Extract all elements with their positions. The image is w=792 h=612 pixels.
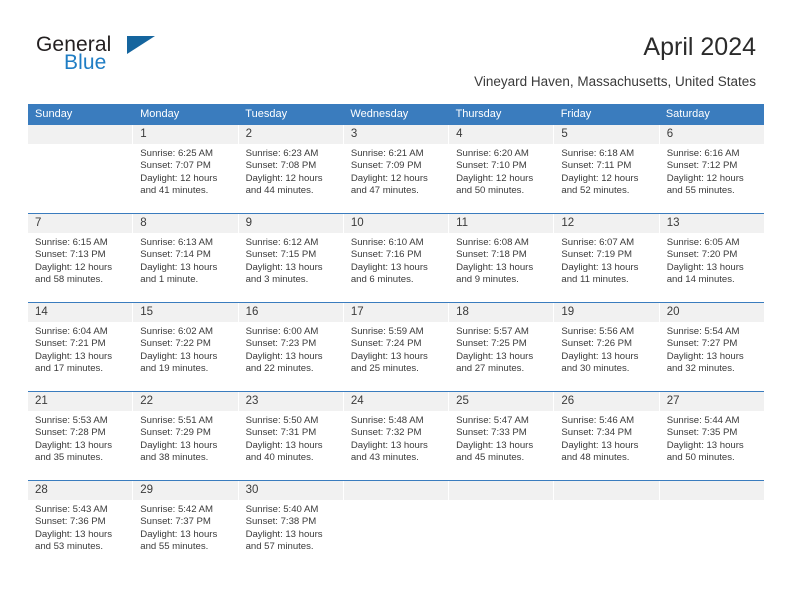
sunset-text: Sunset: 7:23 PM: [246, 338, 339, 350]
daylight-text-line2: and 11 minutes.: [561, 274, 654, 286]
sunset-text: Sunset: 7:13 PM: [35, 249, 128, 261]
daylight-text-line2: and 17 minutes.: [35, 363, 128, 375]
sunset-text: Sunset: 7:28 PM: [35, 427, 128, 439]
daylight-text-line1: Daylight: 13 hours: [246, 440, 339, 452]
daylight-text-line1: Daylight: 13 hours: [140, 351, 233, 363]
daylight-text-line2: and 1 minute.: [140, 274, 233, 286]
day-sun-info: Sunrise: 6:21 AMSunset: 7:09 PMDaylight:…: [344, 144, 448, 197]
calendar-day-cell[interactable]: 20Sunrise: 5:54 AMSunset: 7:27 PMDayligh…: [660, 303, 764, 391]
sunrise-text: Sunrise: 6:25 AM: [140, 148, 233, 160]
day-sun-info: Sunrise: 6:23 AMSunset: 7:08 PMDaylight:…: [239, 144, 343, 197]
day-number: 22: [133, 392, 237, 411]
day-sun-info: Sunrise: 5:50 AMSunset: 7:31 PMDaylight:…: [239, 411, 343, 464]
sunrise-text: Sunrise: 5:51 AM: [140, 415, 233, 427]
weekday-header-row: SundayMondayTuesdayWednesdayThursdayFrid…: [28, 104, 764, 125]
day-sun-info: Sunrise: 6:05 AMSunset: 7:20 PMDaylight:…: [660, 233, 764, 286]
sunset-text: Sunset: 7:24 PM: [351, 338, 444, 350]
daylight-text-line2: and 41 minutes.: [140, 185, 233, 197]
calendar-day-cell[interactable]: 29Sunrise: 5:42 AMSunset: 7:37 PMDayligh…: [133, 481, 238, 567]
day-sun-info: Sunrise: 5:56 AMSunset: 7:26 PMDaylight:…: [554, 322, 658, 375]
day-sun-info: Sunrise: 5:42 AMSunset: 7:37 PMDaylight:…: [133, 500, 237, 553]
logo-text-blue: Blue: [64, 51, 106, 74]
calendar-day-cell[interactable]: 30Sunrise: 5:40 AMSunset: 7:38 PMDayligh…: [239, 481, 344, 567]
day-number: 6: [660, 125, 764, 144]
sunset-text: Sunset: 7:20 PM: [667, 249, 760, 261]
weekday-header-tuesday: Tuesday: [238, 104, 343, 125]
calendar-day-empty: [554, 481, 659, 567]
daylight-text-line2: and 35 minutes.: [35, 452, 128, 464]
sunset-text: Sunset: 7:18 PM: [456, 249, 549, 261]
day-number: 5: [554, 125, 658, 144]
calendar-day-cell[interactable]: 11Sunrise: 6:08 AMSunset: 7:18 PMDayligh…: [449, 214, 554, 302]
day-number: 24: [344, 392, 448, 411]
calendar-day-cell[interactable]: 18Sunrise: 5:57 AMSunset: 7:25 PMDayligh…: [449, 303, 554, 391]
daylight-text-line1: Daylight: 12 hours: [246, 173, 339, 185]
page-title: April 2024: [643, 33, 756, 61]
sunrise-text: Sunrise: 6:21 AM: [351, 148, 444, 160]
calendar-weeks: 1Sunrise: 6:25 AMSunset: 7:07 PMDaylight…: [28, 125, 764, 567]
weekday-header-friday: Friday: [554, 104, 659, 125]
sunset-text: Sunset: 7:11 PM: [561, 160, 654, 172]
day-number: 12: [554, 214, 658, 233]
calendar-day-cell[interactable]: 14Sunrise: 6:04 AMSunset: 7:21 PMDayligh…: [28, 303, 133, 391]
daylight-text-line2: and 43 minutes.: [351, 452, 444, 464]
day-number: 1: [133, 125, 237, 144]
daylight-text-line1: Daylight: 13 hours: [351, 262, 444, 274]
weekday-header-wednesday: Wednesday: [343, 104, 448, 125]
daylight-text-line1: Daylight: 12 hours: [140, 173, 233, 185]
calendar-week-row: 7Sunrise: 6:15 AMSunset: 7:13 PMDaylight…: [28, 213, 764, 302]
day-sun-info: Sunrise: 6:00 AMSunset: 7:23 PMDaylight:…: [239, 322, 343, 375]
sunrise-text: Sunrise: 5:48 AM: [351, 415, 444, 427]
day-sun-info: Sunrise: 6:25 AMSunset: 7:07 PMDaylight:…: [133, 144, 237, 197]
calendar-day-empty: [28, 125, 133, 213]
calendar-day-empty: [449, 481, 554, 567]
sunrise-text: Sunrise: 5:53 AM: [35, 415, 128, 427]
day-sun-info: Sunrise: 5:51 AMSunset: 7:29 PMDaylight:…: [133, 411, 237, 464]
sunset-text: Sunset: 7:19 PM: [561, 249, 654, 261]
calendar-week-row: 21Sunrise: 5:53 AMSunset: 7:28 PMDayligh…: [28, 391, 764, 480]
day-number: 23: [239, 392, 343, 411]
sunrise-text: Sunrise: 6:20 AM: [456, 148, 549, 160]
daylight-text-line1: Daylight: 13 hours: [561, 351, 654, 363]
calendar-day-cell[interactable]: 6Sunrise: 6:16 AMSunset: 7:12 PMDaylight…: [660, 125, 764, 213]
day-number: [554, 481, 658, 500]
daylight-text-line1: Daylight: 13 hours: [561, 440, 654, 452]
calendar-day-cell[interactable]: 16Sunrise: 6:00 AMSunset: 7:23 PMDayligh…: [239, 303, 344, 391]
day-sun-info: Sunrise: 6:13 AMSunset: 7:14 PMDaylight:…: [133, 233, 237, 286]
day-number: [449, 481, 553, 500]
sunset-text: Sunset: 7:38 PM: [246, 516, 339, 528]
day-sun-info: Sunrise: 5:43 AMSunset: 7:36 PMDaylight:…: [28, 500, 132, 553]
calendar-day-cell[interactable]: 27Sunrise: 5:44 AMSunset: 7:35 PMDayligh…: [660, 392, 764, 480]
daylight-text-line2: and 48 minutes.: [561, 452, 654, 464]
daylight-text-line2: and 55 minutes.: [667, 185, 760, 197]
day-number: 14: [28, 303, 132, 322]
calendar-day-cell[interactable]: 19Sunrise: 5:56 AMSunset: 7:26 PMDayligh…: [554, 303, 659, 391]
calendar-day-cell[interactable]: 24Sunrise: 5:48 AMSunset: 7:32 PMDayligh…: [344, 392, 449, 480]
day-number: 13: [660, 214, 764, 233]
week-cells: 7Sunrise: 6:15 AMSunset: 7:13 PMDaylight…: [28, 214, 764, 302]
day-sun-info: Sunrise: 5:59 AMSunset: 7:24 PMDaylight:…: [344, 322, 448, 375]
daylight-text-line2: and 19 minutes.: [140, 363, 233, 375]
calendar-day-cell[interactable]: 25Sunrise: 5:47 AMSunset: 7:33 PMDayligh…: [449, 392, 554, 480]
calendar-day-cell[interactable]: 3Sunrise: 6:21 AMSunset: 7:09 PMDaylight…: [344, 125, 449, 213]
calendar-day-cell[interactable]: 13Sunrise: 6:05 AMSunset: 7:20 PMDayligh…: [660, 214, 764, 302]
sunrise-text: Sunrise: 6:15 AM: [35, 237, 128, 249]
day-number: 28: [28, 481, 132, 500]
day-number: [660, 481, 764, 500]
sunset-text: Sunset: 7:32 PM: [351, 427, 444, 439]
daylight-text-line1: Daylight: 13 hours: [667, 351, 760, 363]
daylight-text-line1: Daylight: 13 hours: [246, 529, 339, 541]
daylight-text-line1: Daylight: 13 hours: [456, 351, 549, 363]
sunrise-text: Sunrise: 6:04 AM: [35, 326, 128, 338]
sunset-text: Sunset: 7:27 PM: [667, 338, 760, 350]
day-number: 27: [660, 392, 764, 411]
daylight-text-line1: Daylight: 12 hours: [456, 173, 549, 185]
location-subtitle: Vineyard Haven, Massachusetts, United St…: [474, 74, 756, 90]
sunrise-text: Sunrise: 5:43 AM: [35, 504, 128, 516]
daylight-text-line1: Daylight: 13 hours: [35, 440, 128, 452]
daylight-text-line2: and 6 minutes.: [351, 274, 444, 286]
calendar-day-cell[interactable]: 7Sunrise: 6:15 AMSunset: 7:13 PMDaylight…: [28, 214, 133, 302]
sunrise-text: Sunrise: 5:57 AM: [456, 326, 549, 338]
day-sun-info: Sunrise: 6:08 AMSunset: 7:18 PMDaylight:…: [449, 233, 553, 286]
calendar-day-cell[interactable]: 4Sunrise: 6:20 AMSunset: 7:10 PMDaylight…: [449, 125, 554, 213]
day-number: 29: [133, 481, 237, 500]
sunrise-text: Sunrise: 5:42 AM: [140, 504, 233, 516]
sunrise-text: Sunrise: 5:47 AM: [456, 415, 549, 427]
daylight-text-line1: Daylight: 13 hours: [246, 351, 339, 363]
daylight-text-line2: and 25 minutes.: [351, 363, 444, 375]
sunset-text: Sunset: 7:08 PM: [246, 160, 339, 172]
day-number: 4: [449, 125, 553, 144]
day-sun-info: Sunrise: 5:47 AMSunset: 7:33 PMDaylight:…: [449, 411, 553, 464]
sunset-text: Sunset: 7:37 PM: [140, 516, 233, 528]
calendar-day-cell[interactable]: 21Sunrise: 5:53 AMSunset: 7:28 PMDayligh…: [28, 392, 133, 480]
day-number: 10: [344, 214, 448, 233]
day-number: 17: [344, 303, 448, 322]
sunset-text: Sunset: 7:22 PM: [140, 338, 233, 350]
sunrise-text: Sunrise: 6:12 AM: [246, 237, 339, 249]
day-number: 19: [554, 303, 658, 322]
day-number: 26: [554, 392, 658, 411]
sunrise-text: Sunrise: 5:50 AM: [246, 415, 339, 427]
sunset-text: Sunset: 7:07 PM: [140, 160, 233, 172]
daylight-text-line2: and 45 minutes.: [456, 452, 549, 464]
sunrise-text: Sunrise: 6:08 AM: [456, 237, 549, 249]
day-number: [344, 481, 448, 500]
triangle-icon: [127, 36, 155, 54]
day-number: 3: [344, 125, 448, 144]
day-sun-info: Sunrise: 6:16 AMSunset: 7:12 PMDaylight:…: [660, 144, 764, 197]
daylight-text-line2: and 57 minutes.: [246, 541, 339, 553]
sunset-text: Sunset: 7:12 PM: [667, 160, 760, 172]
daylight-text-line1: Daylight: 13 hours: [140, 529, 233, 541]
calendar-day-empty: [660, 481, 764, 567]
daylight-text-line1: Daylight: 12 hours: [351, 173, 444, 185]
daylight-text-line1: Daylight: 13 hours: [140, 440, 233, 452]
daylight-text-line1: Daylight: 13 hours: [140, 262, 233, 274]
sunrise-text: Sunrise: 6:05 AM: [667, 237, 760, 249]
daylight-text-line1: Daylight: 13 hours: [667, 440, 760, 452]
calendar-day-cell[interactable]: 28Sunrise: 5:43 AMSunset: 7:36 PMDayligh…: [28, 481, 133, 567]
day-sun-info: Sunrise: 5:53 AMSunset: 7:28 PMDaylight:…: [28, 411, 132, 464]
weekday-header-sunday: Sunday: [28, 104, 133, 125]
calendar-grid: SundayMondayTuesdayWednesdayThursdayFrid…: [28, 104, 764, 567]
day-sun-info: Sunrise: 6:04 AMSunset: 7:21 PMDaylight:…: [28, 322, 132, 375]
day-number: 11: [449, 214, 553, 233]
sunset-text: Sunset: 7:34 PM: [561, 427, 654, 439]
calendar-day-cell[interactable]: 15Sunrise: 6:02 AMSunset: 7:22 PMDayligh…: [133, 303, 238, 391]
sunset-text: Sunset: 7:29 PM: [140, 427, 233, 439]
sunset-text: Sunset: 7:35 PM: [667, 427, 760, 439]
daylight-text-line1: Daylight: 13 hours: [456, 262, 549, 274]
sunset-text: Sunset: 7:25 PM: [456, 338, 549, 350]
sunset-text: Sunset: 7:21 PM: [35, 338, 128, 350]
daylight-text-line2: and 58 minutes.: [35, 274, 128, 286]
sunset-text: Sunset: 7:36 PM: [35, 516, 128, 528]
daylight-text-line2: and 3 minutes.: [246, 274, 339, 286]
calendar-day-cell[interactable]: 12Sunrise: 6:07 AMSunset: 7:19 PMDayligh…: [554, 214, 659, 302]
sunset-text: Sunset: 7:33 PM: [456, 427, 549, 439]
calendar-day-cell[interactable]: 23Sunrise: 5:50 AMSunset: 7:31 PMDayligh…: [239, 392, 344, 480]
sunrise-text: Sunrise: 5:46 AM: [561, 415, 654, 427]
sunrise-text: Sunrise: 5:59 AM: [351, 326, 444, 338]
week-cells: 14Sunrise: 6:04 AMSunset: 7:21 PMDayligh…: [28, 303, 764, 391]
calendar-day-cell[interactable]: 1Sunrise: 6:25 AMSunset: 7:07 PMDaylight…: [133, 125, 238, 213]
day-number: 9: [239, 214, 343, 233]
day-number: 30: [239, 481, 343, 500]
sunrise-text: Sunrise: 6:02 AM: [140, 326, 233, 338]
daylight-text-line2: and 50 minutes.: [667, 452, 760, 464]
day-sun-info: Sunrise: 5:40 AMSunset: 7:38 PMDaylight:…: [239, 500, 343, 553]
week-cells: 21Sunrise: 5:53 AMSunset: 7:28 PMDayligh…: [28, 392, 764, 480]
calendar-week-row: 1Sunrise: 6:25 AMSunset: 7:07 PMDaylight…: [28, 125, 764, 213]
day-sun-info: Sunrise: 6:12 AMSunset: 7:15 PMDaylight:…: [239, 233, 343, 286]
daylight-text-line1: Daylight: 13 hours: [667, 262, 760, 274]
daylight-text-line1: Daylight: 13 hours: [456, 440, 549, 452]
daylight-text-line2: and 53 minutes.: [35, 541, 128, 553]
sunrise-text: Sunrise: 6:00 AM: [246, 326, 339, 338]
daylight-text-line2: and 44 minutes.: [246, 185, 339, 197]
calendar-week-row: 14Sunrise: 6:04 AMSunset: 7:21 PMDayligh…: [28, 302, 764, 391]
day-number: 2: [239, 125, 343, 144]
sunset-text: Sunset: 7:16 PM: [351, 249, 444, 261]
day-number: 7: [28, 214, 132, 233]
calendar-day-cell[interactable]: 10Sunrise: 6:10 AMSunset: 7:16 PMDayligh…: [344, 214, 449, 302]
sunrise-text: Sunrise: 6:16 AM: [667, 148, 760, 160]
daylight-text-line1: Daylight: 12 hours: [561, 173, 654, 185]
sunrise-text: Sunrise: 6:10 AM: [351, 237, 444, 249]
daylight-text-line2: and 27 minutes.: [456, 363, 549, 375]
day-number: 25: [449, 392, 553, 411]
day-sun-info: Sunrise: 6:02 AMSunset: 7:22 PMDaylight:…: [133, 322, 237, 375]
calendar-day-cell[interactable]: 22Sunrise: 5:51 AMSunset: 7:29 PMDayligh…: [133, 392, 238, 480]
sunset-text: Sunset: 7:09 PM: [351, 160, 444, 172]
day-sun-info: Sunrise: 5:44 AMSunset: 7:35 PMDaylight:…: [660, 411, 764, 464]
sunrise-text: Sunrise: 5:40 AM: [246, 504, 339, 516]
calendar-day-cell[interactable]: 2Sunrise: 6:23 AMSunset: 7:08 PMDaylight…: [239, 125, 344, 213]
day-sun-info: Sunrise: 5:54 AMSunset: 7:27 PMDaylight:…: [660, 322, 764, 375]
daylight-text-line2: and 14 minutes.: [667, 274, 760, 286]
week-cells: 28Sunrise: 5:43 AMSunset: 7:36 PMDayligh…: [28, 481, 764, 567]
day-sun-info: Sunrise: 5:57 AMSunset: 7:25 PMDaylight:…: [449, 322, 553, 375]
daylight-text-line2: and 30 minutes.: [561, 363, 654, 375]
daylight-text-line1: Daylight: 13 hours: [351, 351, 444, 363]
daylight-text-line1: Daylight: 13 hours: [35, 529, 128, 541]
daylight-text-line2: and 55 minutes.: [140, 541, 233, 553]
calendar-day-cell[interactable]: 9Sunrise: 6:12 AMSunset: 7:15 PMDaylight…: [239, 214, 344, 302]
daylight-text-line2: and 38 minutes.: [140, 452, 233, 464]
day-sun-info: Sunrise: 6:18 AMSunset: 7:11 PMDaylight:…: [554, 144, 658, 197]
day-sun-info: Sunrise: 6:15 AMSunset: 7:13 PMDaylight:…: [28, 233, 132, 286]
daylight-text-line2: and 32 minutes.: [667, 363, 760, 375]
sunrise-text: Sunrise: 6:07 AM: [561, 237, 654, 249]
day-number: [28, 125, 132, 144]
daylight-text-line1: Daylight: 13 hours: [246, 262, 339, 274]
calendar-week-row: 28Sunrise: 5:43 AMSunset: 7:36 PMDayligh…: [28, 480, 764, 567]
sunset-text: Sunset: 7:14 PM: [140, 249, 233, 261]
sunrise-text: Sunrise: 5:56 AM: [561, 326, 654, 338]
sunset-text: Sunset: 7:15 PM: [246, 249, 339, 261]
daylight-text-line2: and 52 minutes.: [561, 185, 654, 197]
day-sun-info: Sunrise: 6:20 AMSunset: 7:10 PMDaylight:…: [449, 144, 553, 197]
day-sun-info: Sunrise: 6:10 AMSunset: 7:16 PMDaylight:…: [344, 233, 448, 286]
weekday-header-thursday: Thursday: [449, 104, 554, 125]
daylight-text-line2: and 22 minutes.: [246, 363, 339, 375]
sunrise-text: Sunrise: 5:54 AM: [667, 326, 760, 338]
day-number: 15: [133, 303, 237, 322]
sunset-text: Sunset: 7:26 PM: [561, 338, 654, 350]
calendar-day-cell[interactable]: 8Sunrise: 6:13 AMSunset: 7:14 PMDaylight…: [133, 214, 238, 302]
sunrise-text: Sunrise: 6:13 AM: [140, 237, 233, 249]
day-number: 16: [239, 303, 343, 322]
daylight-text-line1: Daylight: 13 hours: [561, 262, 654, 274]
calendar-day-cell[interactable]: 26Sunrise: 5:46 AMSunset: 7:34 PMDayligh…: [554, 392, 659, 480]
page-header: General Blue April 2024 Vineyard Haven, …: [0, 0, 792, 100]
day-number: 8: [133, 214, 237, 233]
daylight-text-line1: Daylight: 12 hours: [667, 173, 760, 185]
sunrise-text: Sunrise: 6:18 AM: [561, 148, 654, 160]
week-cells: 1Sunrise: 6:25 AMSunset: 7:07 PMDaylight…: [28, 125, 764, 213]
day-number: 18: [449, 303, 553, 322]
daylight-text-line2: and 47 minutes.: [351, 185, 444, 197]
day-number: 20: [660, 303, 764, 322]
weekday-header-monday: Monday: [133, 104, 238, 125]
daylight-text-line2: and 40 minutes.: [246, 452, 339, 464]
calendar-day-empty: [344, 481, 449, 567]
daylight-text-line1: Daylight: 12 hours: [35, 262, 128, 274]
calendar-day-cell[interactable]: 17Sunrise: 5:59 AMSunset: 7:24 PMDayligh…: [344, 303, 449, 391]
day-number: 21: [28, 392, 132, 411]
calendar-day-cell[interactable]: 5Sunrise: 6:18 AMSunset: 7:11 PMDaylight…: [554, 125, 659, 213]
sunrise-text: Sunrise: 5:44 AM: [667, 415, 760, 427]
daylight-text-line2: and 9 minutes.: [456, 274, 549, 286]
weekday-header-saturday: Saturday: [659, 104, 764, 125]
calendar-page: General Blue April 2024 Vineyard Haven, …: [0, 0, 792, 612]
sunset-text: Sunset: 7:31 PM: [246, 427, 339, 439]
day-sun-info: Sunrise: 5:48 AMSunset: 7:32 PMDaylight:…: [344, 411, 448, 464]
general-blue-logo[interactable]: General Blue: [36, 33, 186, 79]
day-sun-info: Sunrise: 5:46 AMSunset: 7:34 PMDaylight:…: [554, 411, 658, 464]
daylight-text-line1: Daylight: 13 hours: [35, 351, 128, 363]
daylight-text-line2: and 50 minutes.: [456, 185, 549, 197]
sunset-text: Sunset: 7:10 PM: [456, 160, 549, 172]
sunrise-text: Sunrise: 6:23 AM: [246, 148, 339, 160]
day-sun-info: Sunrise: 6:07 AMSunset: 7:19 PMDaylight:…: [554, 233, 658, 286]
daylight-text-line1: Daylight: 13 hours: [351, 440, 444, 452]
